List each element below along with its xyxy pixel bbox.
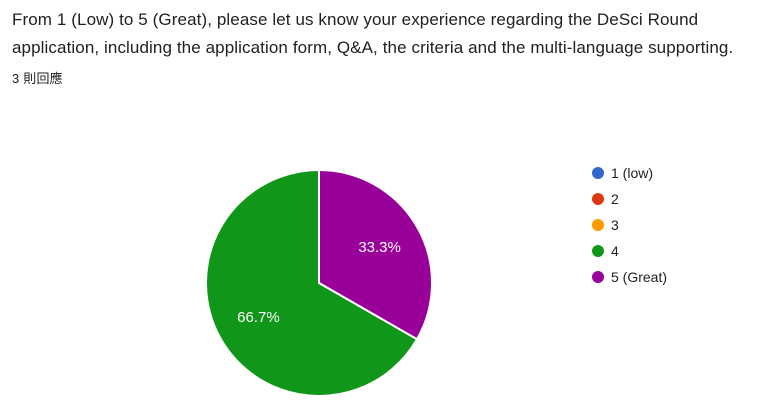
- form-response-chart-card: From 1 (Low) to 5 (Great), please let us…: [0, 0, 784, 414]
- legend-item[interactable]: 3: [592, 212, 772, 238]
- legend-item-label: 1 (low): [611, 165, 653, 181]
- legend-item-label: 3: [611, 217, 619, 233]
- legend-item-label: 2: [611, 191, 619, 207]
- legend-color-swatch-icon: [592, 245, 604, 257]
- question-title: From 1 (Low) to 5 (Great), please let us…: [12, 6, 754, 62]
- legend-item[interactable]: 2: [592, 186, 772, 212]
- legend-color-swatch-icon: [592, 193, 604, 205]
- legend-item[interactable]: 1 (low): [592, 160, 772, 186]
- legend-item-label: 5 (Great): [611, 269, 667, 285]
- legend-color-swatch-icon: [592, 271, 604, 283]
- legend-item[interactable]: 4: [592, 238, 772, 264]
- legend-color-swatch-icon: [592, 219, 604, 231]
- response-count-label: 3 則回應: [12, 70, 754, 88]
- question-block: From 1 (Low) to 5 (Great), please let us…: [12, 6, 754, 88]
- chart-legend: 1 (low)2345 (Great): [592, 160, 772, 290]
- legend-item-label: 4: [611, 243, 619, 259]
- legend-item[interactable]: 5 (Great): [592, 264, 772, 290]
- pie-chart-area: 33.3% 66.7% 1 (low)2345 (Great): [0, 134, 784, 414]
- pie-slice-label-5-great: 33.3%: [358, 239, 401, 256]
- legend-color-swatch-icon: [592, 167, 604, 179]
- pie-slices: [206, 170, 432, 396]
- pie-slice-label-4: 66.7%: [237, 309, 280, 326]
- pie-chart: 33.3% 66.7%: [206, 170, 432, 396]
- pie-chart-svg: 33.3% 66.7%: [206, 170, 432, 396]
